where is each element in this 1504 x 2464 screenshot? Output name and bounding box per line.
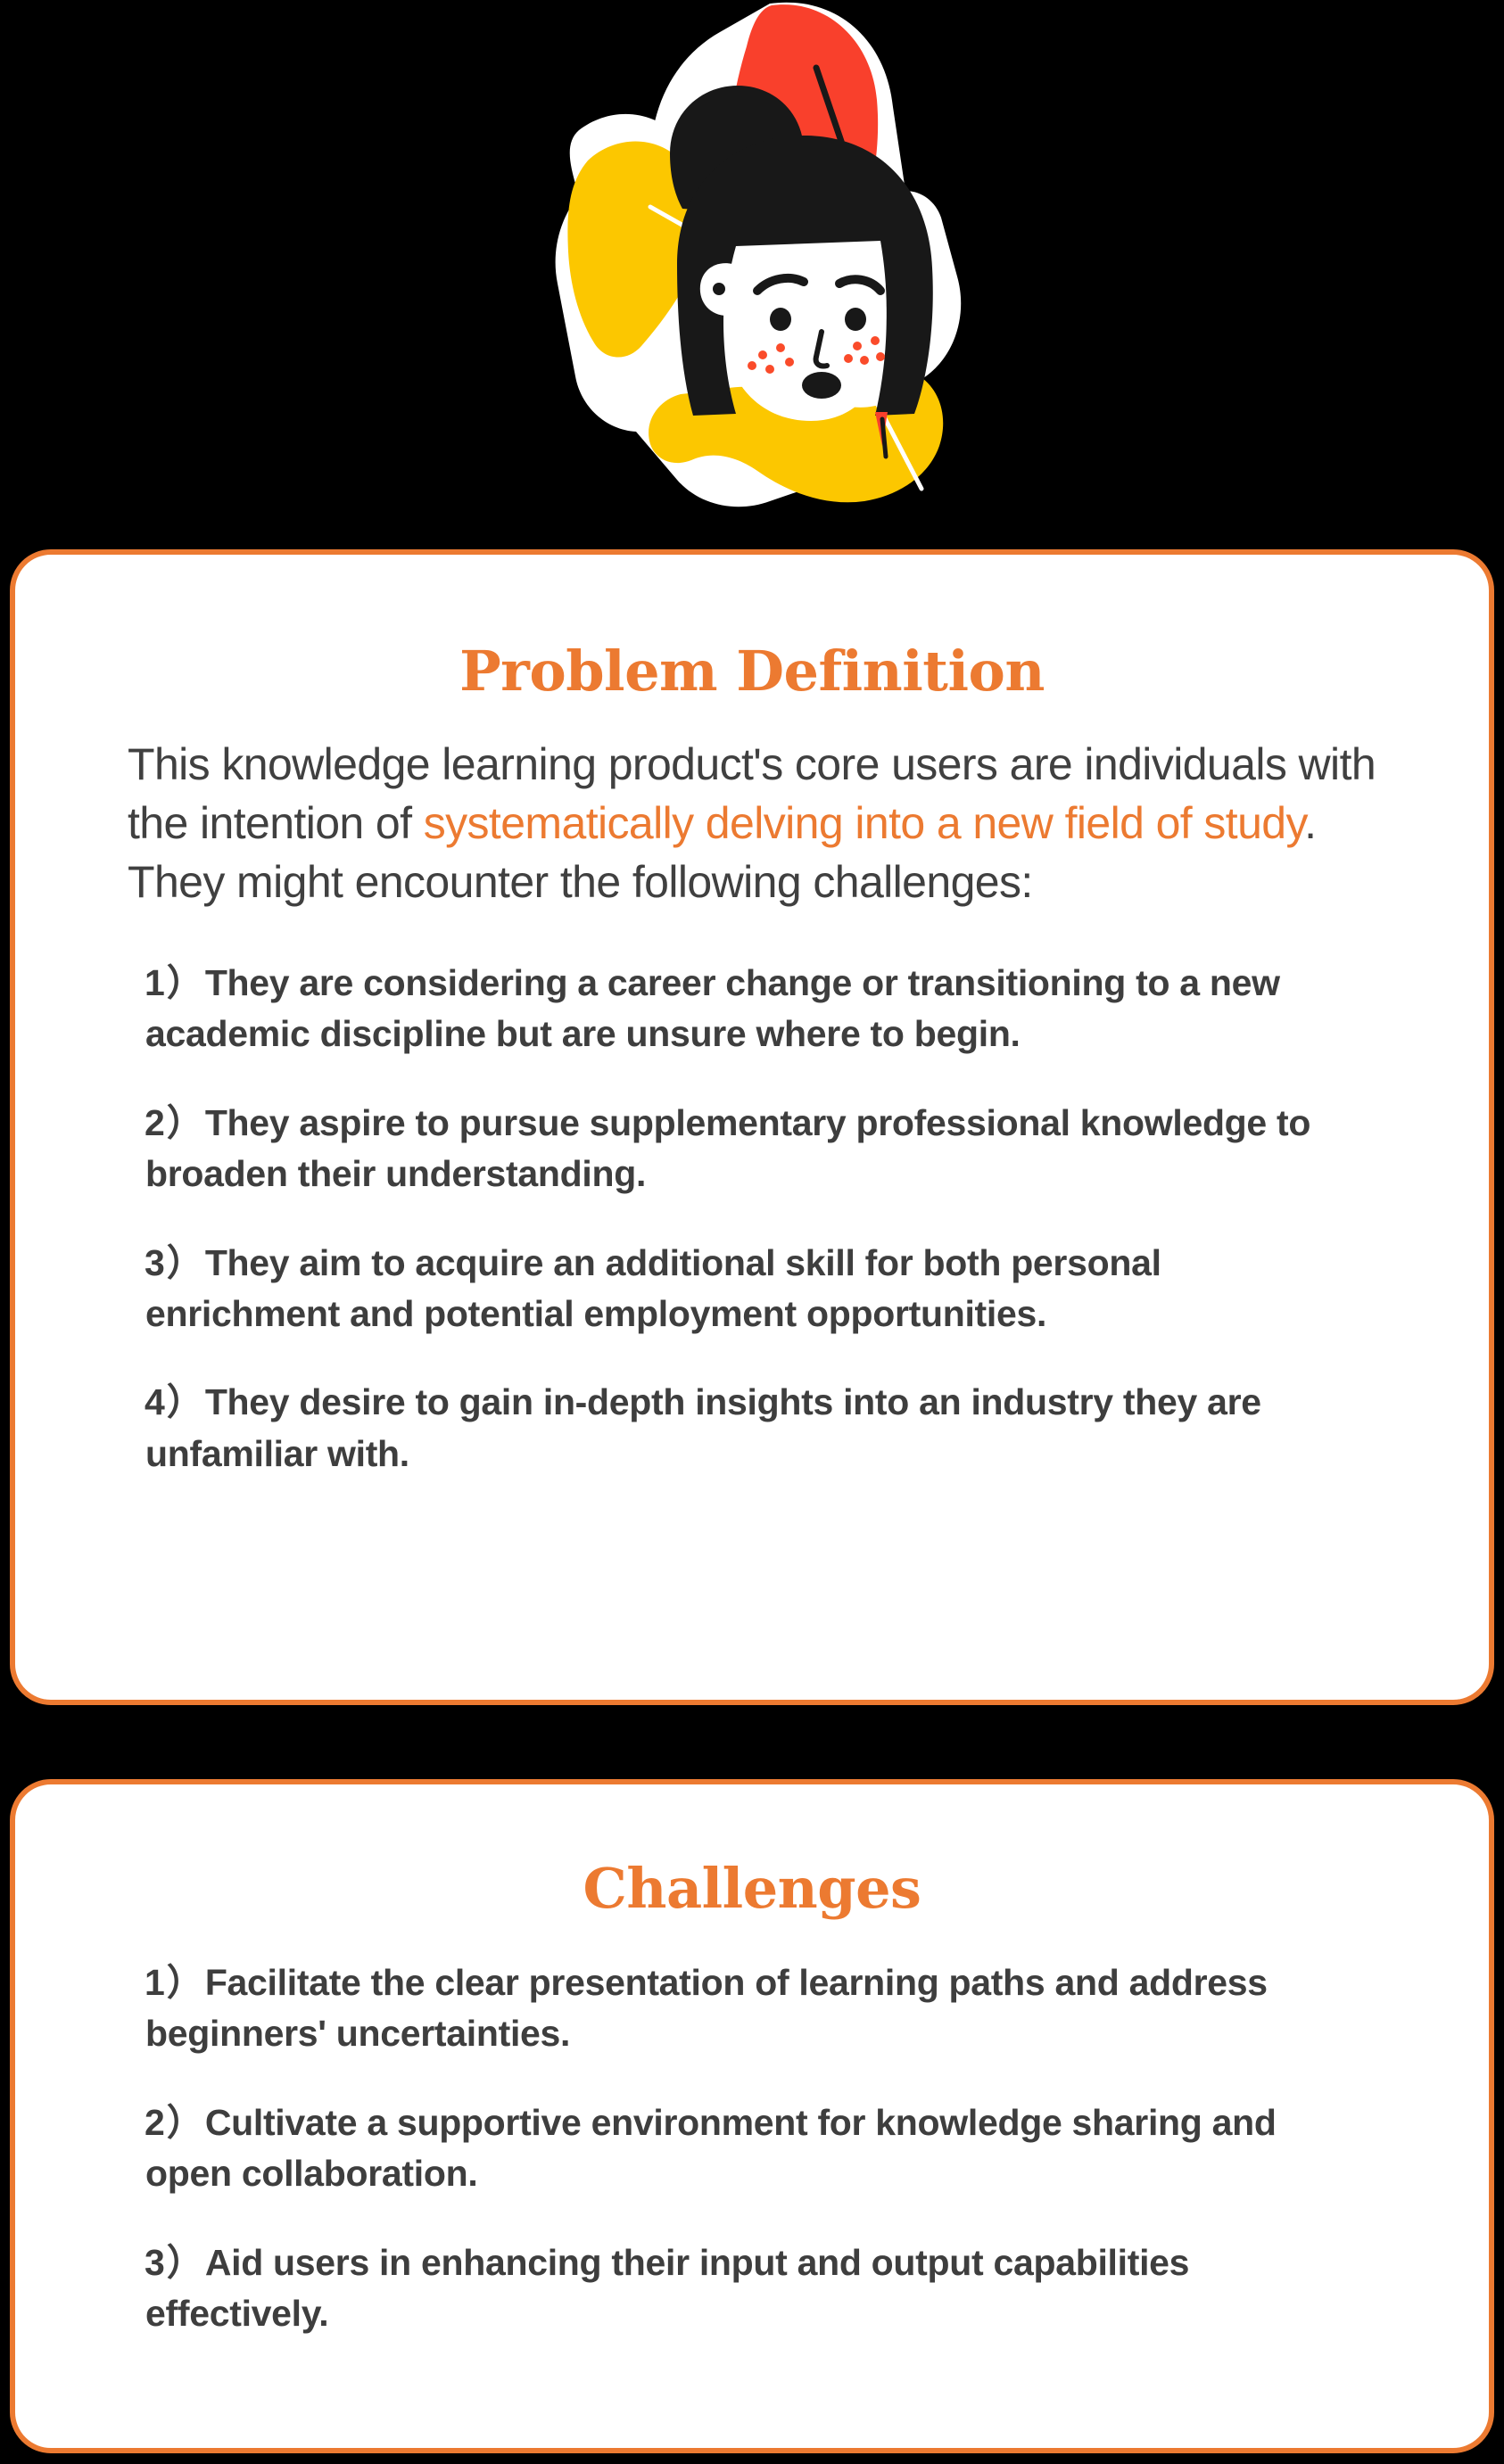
mouth-shape bbox=[802, 372, 841, 399]
challenges-list: 1）Facilitate the clear presentation of l… bbox=[145, 1957, 1355, 2339]
challenges-title: Challenges bbox=[15, 1784, 1489, 1916]
list-item-text: Cultivate a supportive environment for k… bbox=[145, 2102, 1277, 2194]
list-item: 1）They are considering a career change o… bbox=[145, 958, 1355, 1060]
list-item-text: Facilitate the clear presentation of lea… bbox=[145, 1962, 1268, 2054]
list-item: 3）They aim to acquire an additional skil… bbox=[145, 1238, 1355, 1340]
list-item-text: They aspire to pursue supplementary prof… bbox=[145, 1102, 1310, 1194]
eye-left bbox=[770, 308, 791, 331]
problem-list: 1）They are considering a career change o… bbox=[145, 958, 1355, 1479]
poster-page: Problem Definition This knowledge learni… bbox=[0, 0, 1504, 2464]
list-item-number: 2） bbox=[145, 1102, 205, 1143]
list-item-text: They are considering a career change or … bbox=[145, 962, 1280, 1054]
list-item: 4）They desire to gain in-depth insights … bbox=[145, 1377, 1355, 1479]
list-item-text: They aim to acquire an additional skill … bbox=[145, 1242, 1161, 1334]
list-item-text: They desire to gain in-depth insights in… bbox=[145, 1381, 1261, 1473]
hero-section bbox=[0, 0, 1504, 524]
list-item-number: 2） bbox=[145, 2102, 205, 2143]
girl-with-bun-illustration bbox=[502, 0, 1002, 524]
list-item-number: 1） bbox=[145, 962, 205, 1003]
list-item-number: 4） bbox=[145, 1381, 205, 1422]
challenges-card: Challenges 1）Facilitate the clear presen… bbox=[10, 1779, 1494, 2453]
list-item: 1）Facilitate the clear presentation of l… bbox=[145, 1957, 1355, 2060]
lead-text-highlight: systematically delving into a new field … bbox=[424, 798, 1304, 848]
ear-dot bbox=[713, 283, 725, 295]
lead-paragraph: This knowledge learning product's core u… bbox=[128, 735, 1382, 911]
list-item: 2）Cultivate a supportive environment for… bbox=[145, 2097, 1355, 2200]
list-item: 3）Aid users in enhancing their input and… bbox=[145, 2237, 1355, 2340]
list-item-text: Aid users in enhancing their input and o… bbox=[145, 2242, 1189, 2334]
list-item-number: 1） bbox=[145, 1962, 205, 2003]
face-shape bbox=[725, 241, 887, 421]
problem-definition-card: Problem Definition This knowledge learni… bbox=[10, 549, 1494, 1705]
page-title: Problem Definition bbox=[15, 555, 1489, 699]
list-item-number: 3） bbox=[145, 1242, 205, 1283]
eye-right bbox=[845, 308, 866, 331]
list-item-number: 3） bbox=[145, 2242, 205, 2283]
list-item: 2）They aspire to pursue supplementary pr… bbox=[145, 1098, 1355, 1200]
